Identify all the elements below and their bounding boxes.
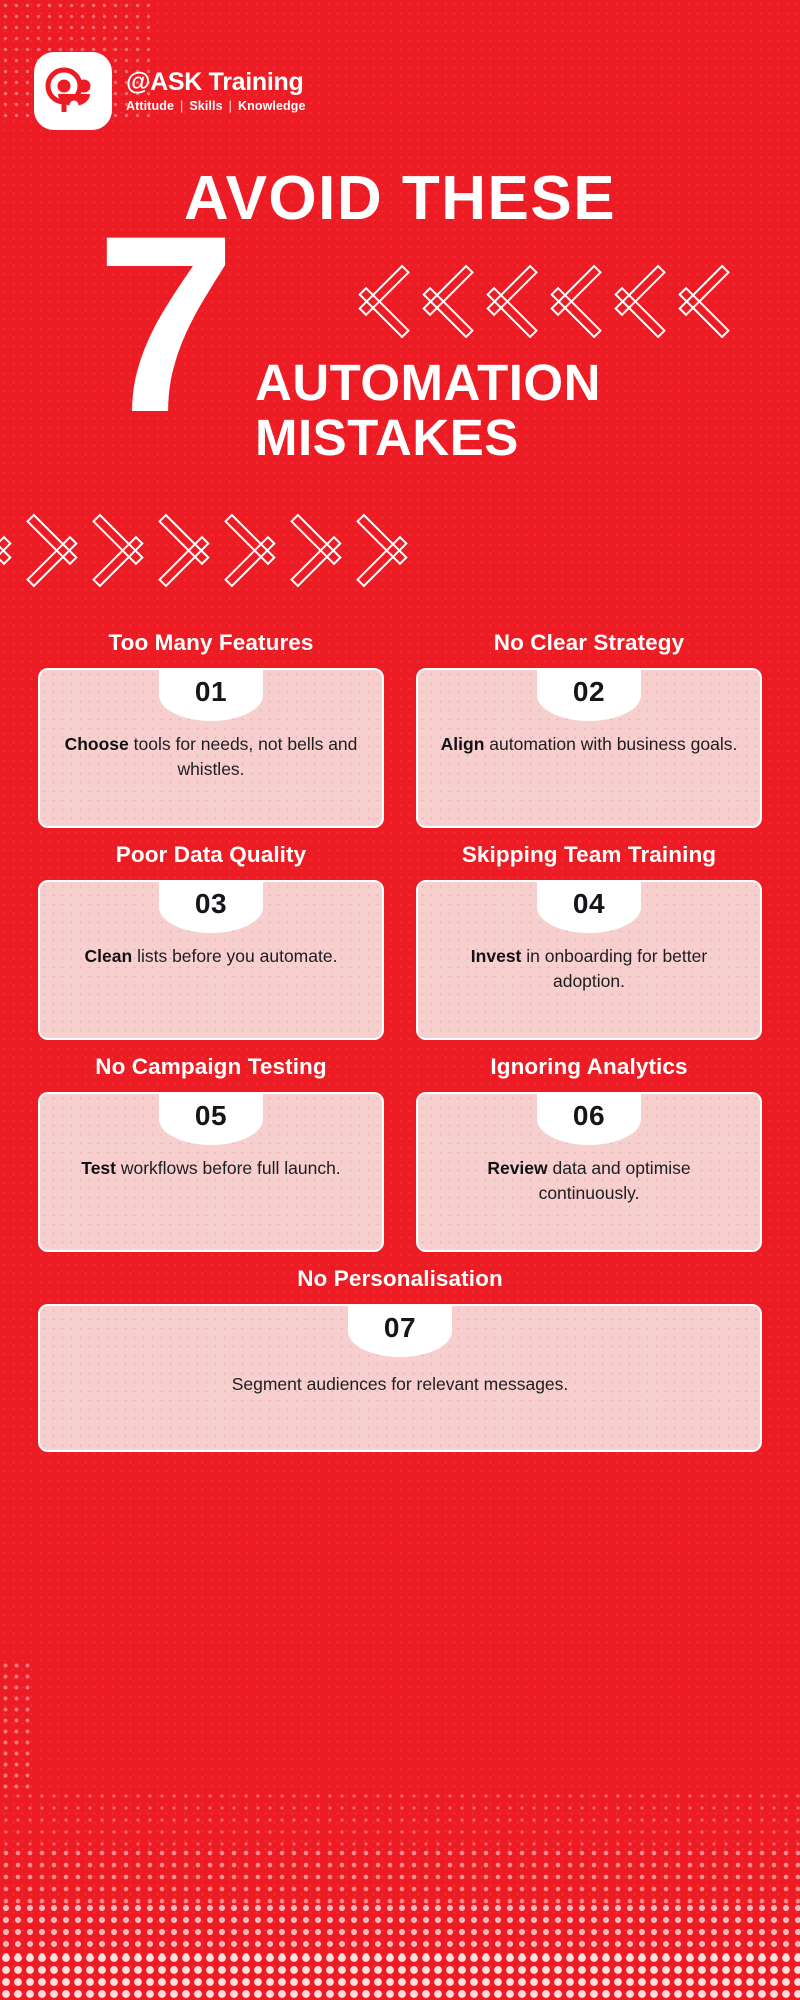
card-number-badge-06: 06	[537, 1093, 641, 1145]
card-lead-01: Choose	[65, 734, 129, 754]
tagline-knowledge: Knowledge	[238, 99, 306, 113]
card-lead-02: Align	[441, 734, 485, 754]
card-lead-03: Clean	[85, 946, 133, 966]
brand-name: @ASK Training	[126, 69, 306, 95]
mistake-cell-02: No Clear Strategy 02 Align automation wi…	[416, 630, 762, 828]
card-text-04: Invest in onboarding for better adoption…	[438, 944, 740, 995]
card-number-05: 05	[195, 1102, 227, 1130]
card-heading-07: No Personalisation	[297, 1266, 503, 1292]
mistakes-grid: Too Many Features 01 Choose tools for ne…	[38, 630, 762, 1452]
chevron-right-icon	[302, 495, 360, 595]
chevron-band-right	[0, 495, 426, 595]
chevron-right-icon	[236, 495, 294, 595]
tagline-separator-2: |	[229, 99, 232, 113]
hero-headline-bottom: AUTOMATION MISTAKES	[255, 355, 601, 465]
card-heading-01: Too Many Features	[108, 630, 313, 656]
hero-section: AVOID THESE 7 AUTOMATION MISTAKES	[0, 150, 800, 610]
card-heading-03: Poor Data Quality	[116, 842, 307, 868]
card-heading-02: No Clear Strategy	[494, 630, 685, 656]
card-number-07: 07	[384, 1314, 416, 1342]
card-body-01: tools for needs, not bells and whistles.	[129, 734, 358, 779]
card-text-02: Align automation with business goals.	[441, 732, 738, 757]
card-lead-05: Test	[81, 1158, 116, 1178]
halftone-bottom-band	[0, 1790, 800, 2000]
mistake-cell-04: Skipping Team Training 04 Invest in onbo…	[416, 842, 762, 1040]
chevron-right-icon	[104, 495, 162, 595]
chevron-right-icon	[0, 495, 30, 595]
brand-tagline: Attitude | Skills | Knowledge	[126, 99, 306, 113]
chevron-left-icon	[660, 246, 718, 346]
hero-headline-automation: AUTOMATION	[255, 355, 601, 410]
mistake-card-01: 01 Choose tools for needs, not bells and…	[38, 668, 384, 828]
card-number-06: 06	[573, 1102, 605, 1130]
chevron-left-icon	[468, 246, 526, 346]
mistake-card-04: 04 Invest in onboarding for better adopt…	[416, 880, 762, 1040]
brand-logo: @ASK Training Attitude | Skills | Knowle…	[34, 52, 306, 130]
card-text-07: Segment audiences for relevant messages.	[232, 1372, 569, 1397]
card-number-badge-07: 07	[348, 1305, 452, 1357]
mistake-cell-01: Too Many Features 01 Choose tools for ne…	[38, 630, 384, 828]
infographic-page: @ASK Training Attitude | Skills | Knowle…	[0, 0, 800, 2000]
card-heading-06: Ignoring Analytics	[490, 1054, 687, 1080]
card-number-badge-03: 03	[159, 881, 263, 933]
chevron-left-icon	[340, 246, 398, 346]
card-lead-04: Invest	[471, 946, 522, 966]
card-number-02: 02	[573, 678, 605, 706]
mistake-cell-03: Poor Data Quality 03 Clean lists before …	[38, 842, 384, 1040]
tagline-attitude: Attitude	[126, 99, 174, 113]
mistake-cell-06: Ignoring Analytics 06 Review data and op…	[416, 1054, 762, 1252]
hero-headline-mistakes: MISTAKES	[255, 410, 601, 465]
mistake-card-06: 06 Review data and optimise continuously…	[416, 1092, 762, 1252]
card-number-03: 03	[195, 890, 227, 918]
chevron-band-left	[340, 246, 718, 346]
card-text-03: Clean lists before you automate.	[85, 944, 338, 969]
card-text-06: Review data and optimise continuously.	[438, 1156, 740, 1207]
tagline-skills: Skills	[189, 99, 222, 113]
card-heading-04: Skipping Team Training	[462, 842, 716, 868]
chevron-left-icon	[532, 246, 590, 346]
card-text-05: Test workflows before full launch.	[81, 1156, 340, 1181]
mistake-card-05: 05 Test workflows before full launch.	[38, 1092, 384, 1252]
chevron-left-icon	[404, 246, 462, 346]
card-lead-06: Review	[487, 1158, 547, 1178]
hero-big-number: 7	[96, 222, 230, 429]
mistake-card-07: 07 Segment audiences for relevant messag…	[38, 1304, 762, 1452]
card-body-03: lists before you automate.	[132, 946, 337, 966]
card-body-07: Segment audiences for relevant messages.	[232, 1374, 569, 1394]
mistake-card-03: 03 Clean lists before you automate.	[38, 880, 384, 1040]
card-body-05: workflows before full launch.	[116, 1158, 341, 1178]
card-number-badge-01: 01	[159, 669, 263, 721]
chevron-right-icon	[38, 495, 96, 595]
mistake-cell-05: No Campaign Testing 05 Test workflows be…	[38, 1054, 384, 1252]
card-body-02: automation with business goals.	[484, 734, 737, 754]
halftone-left-strip	[0, 1660, 34, 1790]
tagline-separator-1: |	[180, 99, 183, 113]
card-number-01: 01	[195, 678, 227, 706]
card-number-badge-02: 02	[537, 669, 641, 721]
card-text-01: Choose tools for needs, not bells and wh…	[60, 732, 362, 783]
ask-training-logo-icon	[34, 52, 112, 130]
chevron-right-icon	[368, 495, 426, 595]
chevron-right-icon	[170, 495, 228, 595]
card-body-06: data and optimise continuously.	[539, 1158, 691, 1203]
card-number-badge-05: 05	[159, 1093, 263, 1145]
card-number-04: 04	[573, 890, 605, 918]
mistake-card-02: 02 Align automation with business goals.	[416, 668, 762, 828]
card-number-badge-04: 04	[537, 881, 641, 933]
card-heading-05: No Campaign Testing	[95, 1054, 327, 1080]
chevron-left-icon	[596, 246, 654, 346]
card-body-04: in onboarding for better adoption.	[521, 946, 707, 991]
mistake-cell-07: No Personalisation 07 Segment audiences …	[38, 1266, 762, 1452]
